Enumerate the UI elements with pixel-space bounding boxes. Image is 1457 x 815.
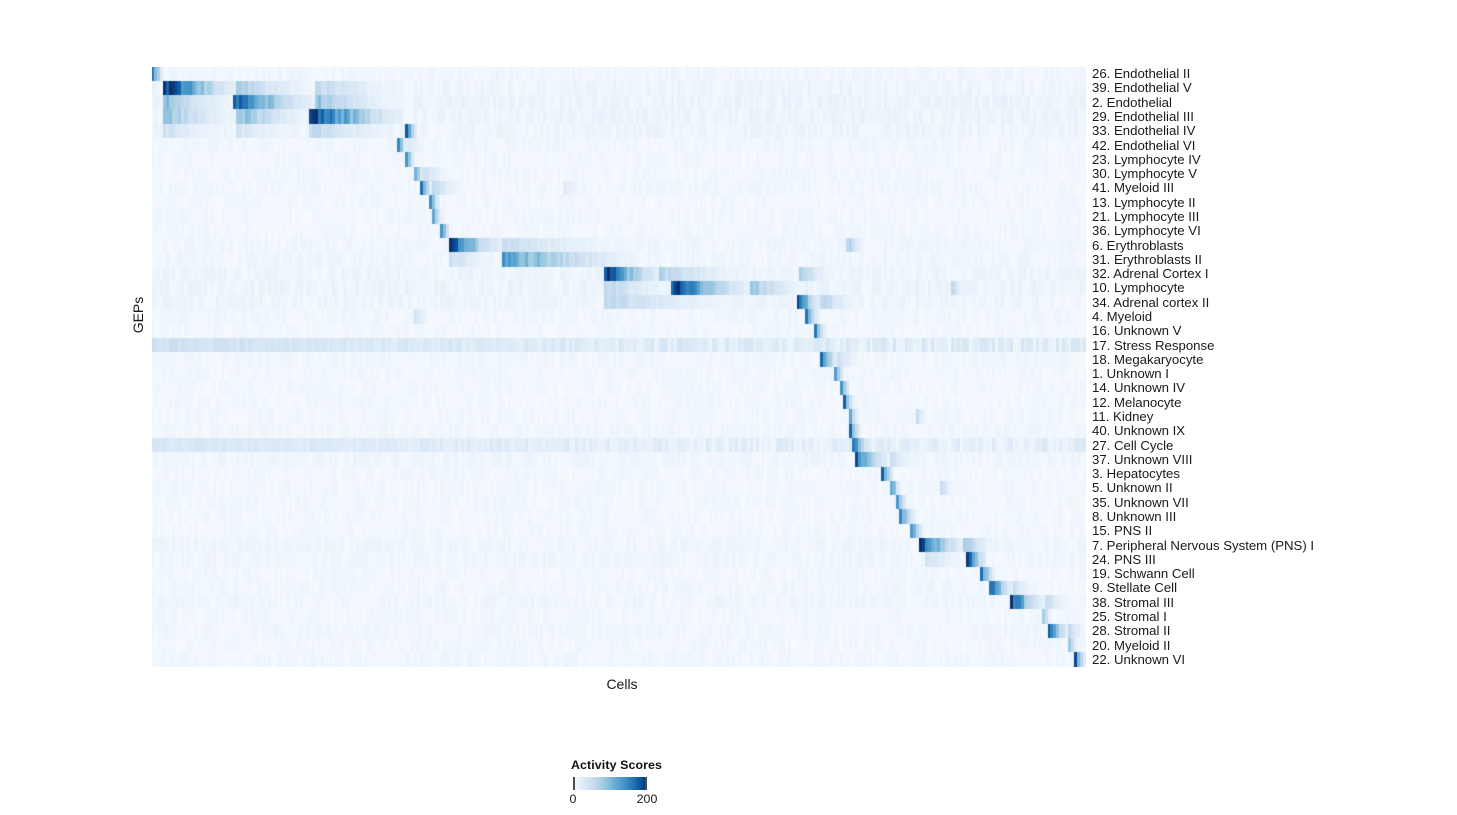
row-label: 4. Myeloid (1092, 310, 1152, 323)
row-label: 20. Myeloid II (1092, 639, 1170, 652)
row-label: 17. Stress Response (1092, 339, 1214, 352)
row-label: 5. Unknown II (1092, 481, 1173, 494)
colorbar-tick-label: 0 (570, 792, 577, 806)
row-label: 21. Lymphocyte III (1092, 210, 1199, 223)
row-label: 30. Lymphocyte V (1092, 167, 1197, 180)
row-label: 42. Endothelial VI (1092, 139, 1195, 152)
row-label: 37. Unknown VIII (1092, 453, 1192, 466)
row-label: 9. Stellate Cell (1092, 581, 1177, 594)
colorbar-gradient (573, 777, 647, 790)
colorbar-tick-labels: 0200 (573, 792, 760, 808)
row-label: 6. Erythroblasts (1092, 239, 1184, 252)
heatmap-plot (152, 67, 1086, 667)
row-label: 40. Unknown IX (1092, 424, 1185, 437)
heatmap-row-labels: 26. Endothelial II39. Endothelial V2. En… (1092, 67, 1452, 667)
colorbar-tick-label: 200 (637, 792, 658, 806)
colorbar-tick (645, 777, 647, 790)
row-label: 39. Endothelial V (1092, 81, 1192, 94)
row-label: 12. Melanocyte (1092, 396, 1181, 409)
row-label: 41. Myeloid III (1092, 181, 1174, 194)
y-axis-title: GEPs (130, 290, 146, 340)
row-label: 1. Unknown I (1092, 367, 1169, 380)
row-label: 18. Megakaryocyte (1092, 353, 1203, 366)
row-label: 24. PNS III (1092, 553, 1156, 566)
row-label: 34. Adrenal cortex II (1092, 296, 1209, 309)
colorbar-legend: Activity Scores 0200 (540, 758, 760, 808)
row-label: 2. Endothelial (1092, 96, 1172, 109)
colorbar-tick (573, 777, 575, 790)
row-label: 3. Hepatocytes (1092, 467, 1180, 480)
row-label: 33. Endothelial IV (1092, 124, 1195, 137)
row-label: 10. Lymphocyte (1092, 281, 1185, 294)
row-label: 38. Stromal III (1092, 596, 1174, 609)
row-label: 16. Unknown V (1092, 324, 1181, 337)
row-label: 35. Unknown VII (1092, 496, 1189, 509)
row-label: 29. Endothelial III (1092, 110, 1194, 123)
row-label: 36. Lymphocyte VI (1092, 224, 1201, 237)
colorbar-title: Activity Scores (571, 758, 760, 772)
row-label: 25. Stromal I (1092, 610, 1167, 623)
row-label: 26. Endothelial II (1092, 67, 1190, 80)
row-label: 15. PNS II (1092, 524, 1152, 537)
row-label: 14. Unknown IV (1092, 381, 1185, 394)
row-label: 19. Schwann Cell (1092, 567, 1195, 580)
row-label: 11. Kidney (1092, 410, 1153, 423)
x-axis-title: Cells (522, 676, 722, 692)
row-label: 27. Cell Cycle (1092, 439, 1173, 452)
row-label: 13. Lymphocyte II (1092, 196, 1196, 209)
row-label: 32. Adrenal Cortex I (1092, 267, 1209, 280)
colorbar-bar-wrap (573, 777, 760, 790)
row-label: 31. Erythroblasts II (1092, 253, 1202, 266)
heatmap-figure: 26. Endothelial II39. Endothelial V2. En… (0, 0, 1457, 815)
row-label: 7. Peripheral Nervous System (PNS) I (1092, 539, 1314, 552)
row-label: 22. Unknown VI (1092, 653, 1185, 666)
row-label: 23. Lymphocyte IV (1092, 153, 1201, 166)
row-label: 28. Stromal II (1092, 624, 1170, 637)
row-label: 8. Unknown III (1092, 510, 1176, 523)
